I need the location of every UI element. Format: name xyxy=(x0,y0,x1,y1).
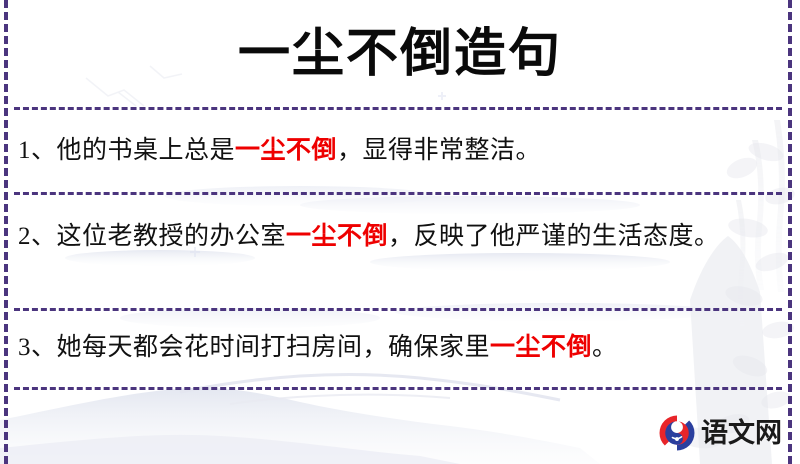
sentence-3-keyword: 一尘不倒 xyxy=(490,334,592,361)
sentence-1-after: ，显得非常整洁。 xyxy=(337,137,541,164)
poster-page: 一尘不倒造句 1、他的书桌上总是一尘不倒，显得非常整洁。 2、这位老教授的办公室… xyxy=(0,0,800,464)
example-sentence-2: 2、这位老教授的办公室一尘不倒，反映了他严谨的生活态度。 xyxy=(18,216,782,258)
divider-3 xyxy=(14,308,782,311)
sentence-3-before: 她每天都会花时间打扫房间，确保家里 xyxy=(57,334,491,361)
sentence-2-keyword: 一尘不倒 xyxy=(286,223,388,250)
sentence-1-before: 他的书桌上总是 xyxy=(57,137,236,164)
sentence-2-after: ，反映了他严谨的生活态度。 xyxy=(388,223,720,250)
example-sentence-1: 1、他的书桌上总是一尘不倒，显得非常整洁。 xyxy=(18,130,782,172)
frame-border-left xyxy=(4,0,8,464)
site-logo[interactable]: 语文网 xyxy=(658,412,782,454)
sentence-3-after: 。 xyxy=(592,334,618,361)
divider-1 xyxy=(14,107,782,110)
sentence-1-index: 1、 xyxy=(18,137,57,164)
frame-border-right xyxy=(788,0,792,464)
yuwen-circle-logo-icon xyxy=(658,414,696,452)
page-title: 一尘不倒造句 xyxy=(0,22,800,88)
divider-4 xyxy=(14,387,782,390)
sentence-1-keyword: 一尘不倒 xyxy=(235,137,337,164)
divider-2 xyxy=(14,192,782,195)
site-logo-text: 语文网 xyxy=(701,418,782,448)
sentence-3-index: 3、 xyxy=(18,334,57,361)
example-sentence-3: 3、她每天都会花时间打扫房间，确保家里一尘不倒。 xyxy=(18,327,782,369)
sentence-2-index: 2、 xyxy=(18,223,57,250)
sentence-2-before: 这位老教授的办公室 xyxy=(57,223,287,250)
